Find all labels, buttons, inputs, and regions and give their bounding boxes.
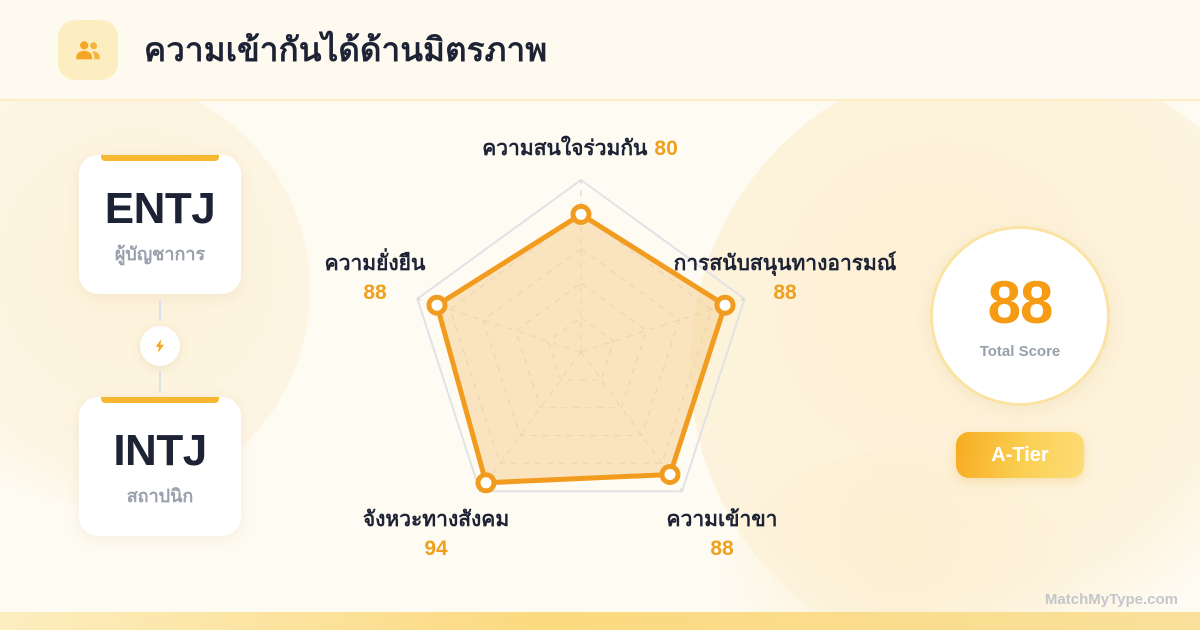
type-card-first[interactable]: ENTJ ผู้บัญชาการ [79, 155, 241, 294]
type-card-second[interactable]: INTJ สถาปนิก [79, 397, 241, 536]
page-title: ความเข้ากันได้ด้านมิตรภาพ [144, 23, 547, 76]
radar-label-value-1: 88 [674, 281, 897, 306]
radar-label-2: ความเข้าขา88 [667, 508, 778, 562]
radar-label-3: จังหวะทางสังคม94 [363, 508, 509, 562]
radar-label-text-2: ความเข้าขา [667, 508, 778, 531]
infographic-page: ความเข้ากันได้ด้านมิตรภาพ ENTJ ผู้บัญชาก… [0, 0, 1200, 630]
radar-point-2 [662, 467, 678, 483]
site-watermark: MatchMyType.com [1045, 591, 1178, 608]
radar-label-text-3: จังหวะทางสังคม [363, 508, 509, 531]
type-code-first: ENTJ [105, 187, 215, 231]
radar-label-0: ความสนใจร่วมกัน80 [482, 137, 678, 162]
connector-line-top [159, 299, 161, 321]
type-name-first: ผู้บัญชาการ [115, 245, 205, 263]
score-value: 88 [988, 273, 1053, 333]
radar-label-value-3: 94 [363, 537, 509, 562]
radar-label-value-2: 88 [667, 537, 778, 562]
radar-label-text-1: การสนับสนุนทางอารมณ์ [674, 252, 897, 275]
personality-type-pair: ENTJ ผู้บัญชาการ INTJ สถาปนิก [79, 155, 241, 536]
type-connector [79, 294, 241, 397]
radar-label-value-0: 80 [654, 137, 677, 160]
type-name-second: สถาปนิก [127, 487, 194, 505]
page-header: ความเข้ากันได้ด้านมิตรภาพ [0, 0, 1200, 101]
bottom-accent-bar [0, 612, 1200, 630]
radar-chart: ความสนใจร่วมกัน80การสนับสนุนทางอารมณ์88ค… [290, 110, 890, 590]
radar-point-4 [429, 297, 445, 313]
tier-badge: A-Tier [956, 432, 1083, 478]
radar-label-1: การสนับสนุนทางอารมณ์88 [674, 252, 897, 306]
connector-line-bottom [159, 371, 161, 393]
radar-label-text-0: ความสนใจร่วมกัน [482, 137, 647, 160]
radar-label-text-4: ความยั่งยืน [325, 252, 426, 275]
type-code-second: INTJ [113, 429, 206, 473]
people-group-icon [58, 20, 118, 80]
radar-point-3 [478, 475, 494, 491]
radar-point-0 [573, 206, 589, 222]
radar-label-4: ความยั่งยืน88 [325, 252, 426, 306]
score-caption: Total Score [980, 344, 1061, 359]
total-score-block: 88 Total Score A-Tier [930, 226, 1110, 478]
lightning-bolt-icon [140, 326, 180, 366]
score-circle: 88 Total Score [930, 226, 1110, 406]
radar-label-value-4: 88 [325, 281, 426, 306]
